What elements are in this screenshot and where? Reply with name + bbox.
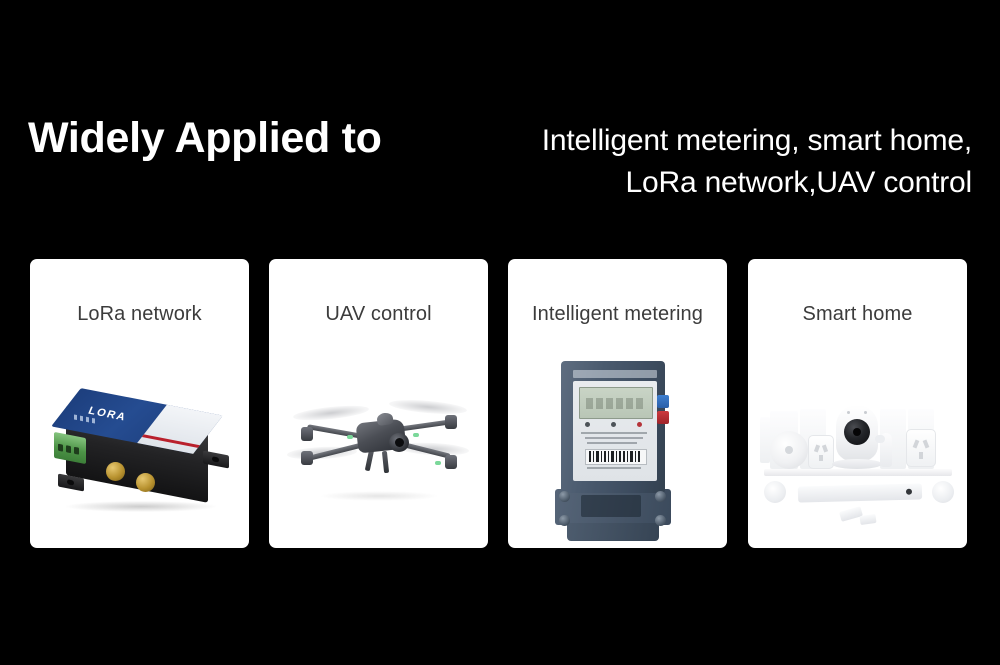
meter-text-line-4: [587, 467, 641, 469]
smart-socket-2: [906, 429, 936, 467]
application-card-uav-control[interactable]: UAV control: [269, 259, 488, 548]
meter-screw-top-right: [655, 491, 666, 502]
meter-indicator-leds: [581, 421, 649, 428]
meter-lcd-display: [579, 387, 653, 419]
application-card-smart-home[interactable]: Smart home: [748, 259, 967, 548]
device-shadow: [66, 501, 216, 512]
drone-illustration: [285, 393, 473, 513]
smart-home-devices-photo: [748, 351, 967, 548]
meter-screw-bottom-right: [655, 515, 666, 526]
meter-front-panel: [573, 381, 657, 481]
meter-text-line-3: [587, 442, 637, 444]
door-window-sensor-upright: [880, 433, 892, 467]
meter-blue-button[interactable]: [657, 395, 669, 408]
round-sensor-left: [764, 481, 786, 503]
page-title: Widely Applied to: [28, 112, 382, 164]
card-label-lora-network: LoRa network: [30, 303, 249, 326]
smart-home-illustration: [756, 381, 959, 541]
meter-text-line-2: [585, 437, 643, 439]
lora-gateway-photo: LORA: [30, 351, 249, 548]
drone-motor-rear-left: [301, 451, 313, 465]
drone-arm-front-left: [307, 424, 363, 439]
subtitle-line-2: LoRa network,UAV control: [472, 162, 972, 204]
meter-bottom-housing: [567, 523, 659, 541]
gateway-terminal-block: [54, 432, 86, 464]
gateway-antenna-connector-1: [106, 462, 125, 481]
drone-motor-front-right: [445, 415, 457, 429]
drone-shadow: [319, 491, 439, 501]
subtitle-line-1: Intelligent metering, smart home,: [472, 120, 972, 162]
meter-red-button[interactable]: [657, 411, 669, 424]
drone-photo: [269, 351, 488, 548]
long-bar-sensor: [798, 483, 922, 502]
header-banner: Widely Applied to Intelligent metering, …: [0, 112, 1000, 222]
smart-socket-1: [808, 435, 834, 469]
application-card-lora-network[interactable]: LoRa network LORA: [30, 259, 249, 548]
meter-housing: [561, 361, 665, 493]
drone-motor-rear-right: [445, 455, 457, 469]
wall-panel-far-left: [760, 417, 770, 463]
application-card-intelligent-metering[interactable]: Intelligent metering: [508, 259, 727, 548]
meter-barcode-label: [585, 449, 647, 465]
electricity-meter-illustration: [553, 355, 681, 547]
propeller-blur-front-right: [389, 398, 468, 417]
display-shelf: [764, 469, 952, 476]
motion-sensor-dome: [770, 431, 808, 469]
gateway-red-stripe: [142, 434, 200, 447]
camera-stand: [832, 459, 882, 469]
gateway-antenna-connector-2: [136, 473, 155, 492]
security-camera: [836, 405, 878, 461]
door-contact-piece-2: [859, 514, 876, 525]
drone-nav-light-2: [413, 433, 419, 437]
meter-top-strip: [573, 370, 657, 378]
drone-landing-leg-right: [382, 451, 389, 473]
electricity-meter-photo: [508, 351, 727, 548]
card-label-intelligent-metering: Intelligent metering: [508, 303, 727, 326]
card-label-uav-control: UAV control: [269, 303, 488, 326]
meter-screw-top-left: [559, 491, 570, 502]
meter-screw-bottom-left: [559, 515, 570, 526]
meter-text-line-1: [581, 432, 647, 434]
camera-lens: [844, 419, 870, 445]
drone-camera-gimbal: [389, 433, 409, 452]
drone-nav-light-3: [435, 461, 441, 465]
meter-terminal-cover: [555, 489, 671, 525]
drone-motor-front-left: [301, 427, 313, 441]
propeller-blur-front-left: [293, 403, 370, 423]
drone-nav-light-1: [347, 435, 353, 439]
card-label-smart-home: Smart home: [748, 303, 967, 326]
round-sensor-right: [932, 481, 954, 503]
application-list-subtitle: Intelligent metering, smart home, LoRa n…: [472, 120, 972, 204]
lora-gateway-illustration: LORA: [48, 383, 233, 533]
